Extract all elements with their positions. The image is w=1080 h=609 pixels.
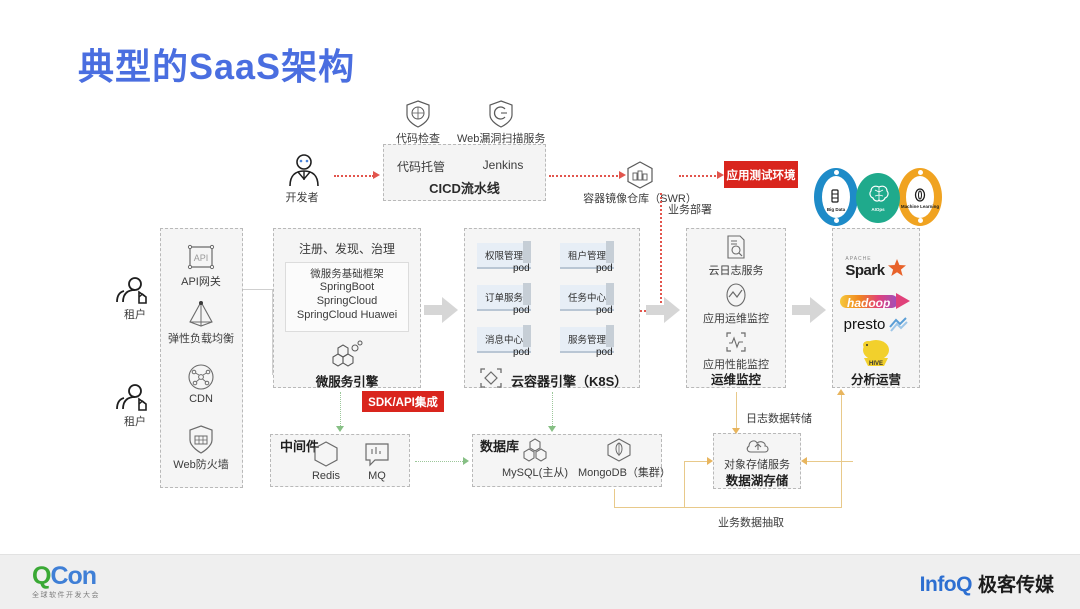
ring-label-big-data: Big Data [814,207,858,212]
apm-node: 应用性能监控 [700,330,772,372]
aom-node: 应用运维监控 [700,282,772,326]
dev-to-cicd-arrow [373,171,380,179]
api-gateway-icon: API [170,243,232,271]
big-data-icon [828,188,842,204]
test-env-box[interactable]: 应用测试环境 [724,161,798,188]
aom-label: 应用运维监控 [700,310,772,326]
cloud-log-icon [706,234,766,260]
k8s-to-middleware-arrow [336,426,344,432]
svg-text:API: API [194,253,209,263]
jenkins-label: Jenkins [465,158,541,172]
pod-tag: pod [596,263,613,274]
swr-to-testenv-line [679,175,719,177]
framework-item-springboot: SpringBoot [285,281,409,293]
cce-diamond-icon [478,366,504,390]
db-to-storage-vline [614,489,615,508]
redis-node: Redis [302,440,350,482]
storage-left-vline [684,461,685,507]
tenant-node-1: 租户 [108,276,162,322]
developer-label: 开发者 [275,189,329,205]
cloud-log-node: 云日志服务 [706,234,766,278]
ms-to-k8s-arrow [424,297,458,323]
hadoop-label: hadoop [847,296,890,310]
cloud-log-label: 云日志服务 [706,262,766,278]
ring-dot [918,170,923,175]
database-title: 数据库 [480,440,494,455]
web-vulnerability-scan-icon [457,100,545,128]
middleware-title: 中间件 [280,440,294,455]
storage-to-analytics-vline [841,395,842,508]
k8s-to-db-line [552,392,553,426]
access-to-ms-line [243,289,273,290]
web-scan-node: Web漏洞扫描服务 [457,100,545,146]
ring-dot [834,170,839,175]
ring-label-machine-learning: Machine Learning [896,204,944,209]
dev-to-cicd-line [334,175,374,177]
mysql-node: MySQL(主从) [499,438,571,480]
tenant-icon [108,276,162,304]
pod-item[interactable]: 服务管理 pod [560,327,622,361]
pod-item[interactable]: 租户管理 pod [560,243,622,277]
infoq-logo: InfoQ 极客传媒 [920,570,1054,597]
microservice-engine-label: 微服务引擎 [273,371,421,390]
k8s-to-db-arrow [548,426,556,432]
cdn-label: CDN [173,393,229,405]
framework-title: 微服务基础框架 [285,266,409,281]
qcon-logo: QCon 全球软件开发大会 [32,564,100,600]
microservice-header: 注册、发现、治理 [273,240,421,257]
presto-logo: presto [836,316,916,333]
pod-tag: pod [596,305,613,316]
pod-tag: pod [596,347,613,358]
mongodb-node: MongoDB（集群） [578,438,660,480]
redis-label: Redis [302,470,350,482]
tenant-icon [108,383,162,411]
tenant-label-1: 租户 [108,306,162,322]
hadoop-logo: hadoop [840,292,912,310]
mq-icon [356,440,398,468]
framework-item-springcloud-huawei: SpringCloud Huawei [285,309,409,321]
cdn-node: CDN [173,363,229,405]
hive-logo: HIVE [848,338,904,368]
pod-tag: pod [513,347,530,358]
ring-dot [918,218,923,223]
apm-icon [700,330,772,354]
svg-text:HIVE: HIVE [869,361,883,367]
db-extract-hline [614,507,842,508]
developer-node: 开发者 [275,153,329,205]
web-firewall-node: Web防火墙 [166,425,236,472]
monitoring-group-label: 运维监控 [686,369,786,388]
tenant-node-2: 租户 [108,383,162,429]
storage-group-label: 数据湖存储 [713,470,801,489]
web-firewall-icon [166,425,236,454]
load-balancer-icon [163,300,239,328]
pod-label: 服务管理 [560,332,614,346]
presto-label: presto [844,316,886,333]
middleware-to-db-line [415,461,463,462]
container-registry-icon [605,160,675,190]
pod-item[interactable]: 消息中心 pod [477,327,539,361]
business-deploy-line [660,193,662,311]
middleware-to-db-arrow [463,457,469,465]
container-engine-label: 云容器引擎（K8S） [511,371,627,390]
load-balancer-node: 弹性负载均衡 [163,300,239,346]
business-deploy-label: 业务部署 [668,201,712,217]
tenant-label-2: 租户 [108,413,162,429]
qcon-logo-con: Con [50,562,96,590]
qcon-logo-q: Q [32,562,50,590]
ring-label-aiops: AIOps [856,207,900,212]
pod-tag: pod [513,305,530,316]
swr-node [605,160,675,190]
cicd-pipeline-title: CICD流水线 [383,178,546,197]
pod-label: 订单服务 [477,290,531,304]
ring-dot [834,218,839,223]
qcon-sublabel: 全球软件开发大会 [32,590,100,600]
monitor-to-analytics-arrow [792,297,826,323]
swr-to-testenv-arrow [717,171,724,179]
aom-icon [700,282,772,308]
mysql-label: MySQL(主从) [499,464,571,480]
machine-learning-icon [913,187,927,203]
pod-tag: pod [513,263,530,274]
footer-bar [0,554,1080,609]
code-host-label: 代码托管 [383,158,459,175]
pod-label: 任务中心 [560,290,614,304]
microservice-engine-icon [315,340,379,368]
aiops-brain-icon [868,184,890,204]
web-firewall-label: Web防火墙 [166,456,236,472]
redis-icon [302,440,350,468]
k8s-to-monitor-arrow [646,297,680,323]
data-extract-label: 业务数据抽取 [718,514,784,530]
pod-label: 消息中心 [477,332,531,346]
microservice-engine-node [315,340,379,368]
storage-in-arrow [801,457,807,465]
pod-item[interactable]: 订单服务 pod [477,285,539,319]
spark-logo: APACHE Spark [838,256,914,279]
infoq-label: InfoQ [920,573,972,597]
pod-label: 权限管理 [477,248,531,262]
mongodb-label: MongoDB（集群） [578,464,660,480]
slide-canvas: 典型的SaaS架构 开发者 代码检查 [0,0,1080,608]
load-balancer-label: 弹性负载均衡 [163,330,239,346]
cdn-icon [173,363,229,391]
infoq-cn-label: 极客传媒 [978,570,1054,597]
code-check-node: 代码检查 [390,100,446,146]
monitoring-to-storage-line [736,392,737,430]
pod-item[interactable]: 任务中心 pod [560,285,622,319]
mysql-icon [499,438,571,462]
analytics-group-label: 分析运营 [832,369,920,388]
framework-item-springcloud: SpringCloud [285,295,409,307]
page-title: 典型的SaaS架构 [78,38,355,90]
mq-node: MQ [356,440,398,482]
api-gateway-label: API网关 [170,273,232,289]
sdk-api-badge[interactable]: SDK/API集成 [362,391,444,412]
storage-to-analytics-arrow [837,389,845,395]
api-gateway-node: API API网关 [170,243,232,289]
log-transfer-label: 日志数据转储 [746,410,812,426]
pod-label: 租户管理 [560,248,614,262]
obs-cloud-icon [745,437,771,455]
spark-label: Spark [845,262,884,279]
pod-item[interactable]: 权限管理 pod [477,243,539,277]
mongodb-icon [578,438,660,462]
code-check-shield-icon [390,100,446,128]
monitoring-to-storage-arrow [732,428,740,434]
developer-icon [275,153,329,187]
mq-label: MQ [356,470,398,482]
storage-out-hline [805,461,853,462]
storage-left-arrow [707,457,713,465]
k8s-to-middleware-line [340,392,341,426]
